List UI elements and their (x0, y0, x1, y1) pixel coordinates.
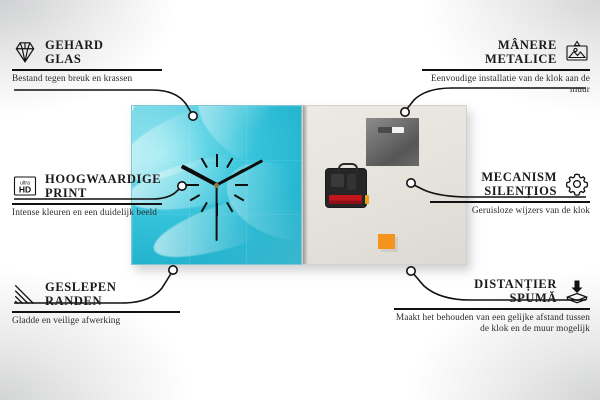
mechanism-detail (347, 174, 356, 190)
gear-icon (564, 171, 590, 197)
feature-title: GEHARD GLAS (45, 38, 103, 66)
hanger-keyhole-slot (378, 127, 404, 133)
battery-terminal (365, 195, 369, 204)
feature-description: Intense kleuren en een duidelijk beeld (12, 208, 162, 220)
feature-heading: GEHARD GLAS (12, 38, 162, 66)
framed-picture-icon (564, 39, 590, 65)
feature-title: DISTANȚIER SPUMĂ (474, 277, 557, 305)
foam-spacer-part (378, 234, 395, 249)
feature-title: MÂNERE METALICE (485, 38, 557, 66)
feature-silent-mechanism: MECANISM SILENȚIOS Geruisloze wijzers va… (430, 170, 590, 217)
svg-text:HD: HD (19, 185, 31, 195)
feature-description: Geruisloze wijzers van de klok (430, 206, 590, 218)
feature-title: GESLEPEN RANDEN (45, 280, 117, 308)
panel-edge-shadow (303, 106, 308, 264)
feature-metal-handles: MÂNERE METALICE Eenvoudige installatie v… (422, 38, 590, 97)
mechanism-hook (338, 163, 358, 174)
feature-description: Gladde en veilige afwerking (12, 316, 180, 328)
product-image (131, 105, 471, 270)
feature-description: Maakt het behouden van een gelijke afsta… (394, 313, 590, 336)
diamond-icon (12, 39, 38, 65)
feature-foam-spacer: DISTANȚIER SPUMĂ Maakt het behouden van … (394, 277, 590, 336)
feature-heading: GESLEPEN RANDEN (12, 280, 180, 308)
feature-heading: MÂNERE METALICE (422, 38, 590, 66)
feature-title: MECANISM SILENȚIOS (481, 170, 557, 198)
feature-tempered-glass: GEHARD GLAS Bestand tegen breuk en krass… (12, 38, 162, 85)
feature-heading: DISTANȚIER SPUMĂ (394, 277, 590, 305)
feature-rule (12, 69, 162, 71)
clock-second-hand (216, 185, 218, 241)
feature-hd-print: ultra HD HOOGWAARDIGE PRINT Intense kleu… (12, 172, 162, 219)
feature-heading: MECANISM SILENȚIOS (430, 170, 590, 198)
feature-title: HOOGWAARDIGE PRINT (45, 172, 161, 200)
feature-rule (394, 308, 590, 310)
feature-description: Eenvoudige installatie van de klok aan d… (422, 74, 590, 97)
clock-mechanism-part (325, 168, 367, 208)
metal-hanger-part (366, 118, 419, 166)
feature-rule (12, 203, 162, 205)
feature-rule (422, 69, 590, 71)
feature-heading: ultra HD HOOGWAARDIGE PRINT (12, 172, 162, 200)
battery (329, 195, 362, 204)
ultra-hd-icon: ultra HD (12, 173, 38, 199)
feature-rule (430, 201, 590, 203)
feature-polished-edges: GESLEPEN RANDEN Gladde en veilige afwerk… (12, 280, 180, 327)
bevel-lines-icon (12, 281, 38, 307)
infographic-canvas: GEHARD GLAS Bestand tegen breuk en krass… (0, 0, 600, 400)
feature-description: Bestand tegen breuk en krassen (12, 74, 162, 86)
feature-rule (12, 311, 180, 313)
clock-center-cap (214, 183, 219, 188)
mechanism-detail (331, 174, 344, 187)
press-down-pad-icon (564, 278, 590, 304)
